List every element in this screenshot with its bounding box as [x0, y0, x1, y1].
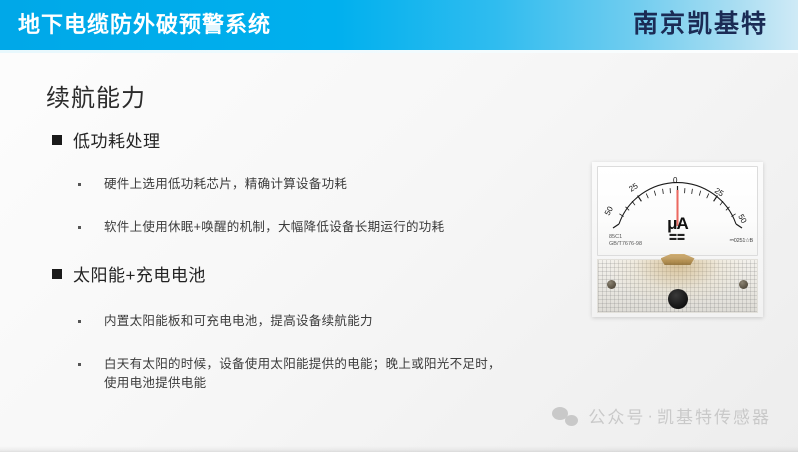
bullet-level2-item: 软件上使用休眠+唤醒的机制，大幅降低设备长期运行的功耗 — [78, 218, 444, 237]
bullet-level2-label: 硬件上选用低功耗芯片，精确计算设备功耗 — [104, 175, 347, 194]
screw-icon-right — [739, 280, 748, 289]
meter-model-number: 85C1 — [609, 234, 642, 241]
bullet-level2-item: 硬件上选用低功耗芯片，精确计算设备功耗 — [78, 175, 347, 194]
bullet-level1-solar-battery: 太阳能+充电电池 — [52, 261, 206, 286]
page-title: 续航能力 — [46, 78, 146, 113]
square-bullet-icon — [52, 269, 62, 279]
meter-housing-base — [597, 259, 758, 313]
svg-text:25: 25 — [627, 181, 640, 194]
dot-bullet-icon — [78, 320, 81, 323]
slide-header-bar: 地下电缆防外破预警系统 南京凯基特 — [0, 0, 798, 50]
bullet-level2-label: 白天有太阳的时候，设备使用太阳能提供的电能；晚上或阳光不足时， 使用电池提供电能 — [104, 355, 501, 393]
company-brand-logo-text: 南京凯基特 — [633, 8, 768, 42]
bullet-level2-label: 内置太阳能板和可充电电池，提高设备续航能力 — [104, 312, 373, 331]
wechat-watermark: 公众号 · 凯基特传感器 — [552, 403, 771, 428]
meter-adjust-knob — [668, 289, 688, 309]
meter-standard-code: GB/T7676-98 — [609, 241, 642, 248]
wechat-bubble-small — [565, 415, 578, 426]
watermark-separator: · — [647, 406, 655, 426]
svg-text:25: 25 — [713, 186, 726, 199]
dot-bullet-icon — [78, 363, 81, 366]
watermark-prefix: 公众号 — [588, 403, 645, 428]
bullet-level2-item: 内置太阳能板和可充电电池，提高设备续航能力 — [78, 312, 373, 331]
watermark-account-name: 凯基特传感器 — [657, 403, 771, 428]
meter-markings-text: ⎓0251☆B — [730, 238, 753, 245]
wechat-icon — [552, 406, 578, 426]
slide-canvas: 地下电缆防外破预警系统 南京凯基特 续航能力 低功耗处理 硬件上选用低功耗芯片，… — [0, 0, 798, 452]
bullet-level2-label: 软件上使用休眠+唤醒的机制，大幅降低设备长期运行的功耗 — [104, 218, 444, 237]
dot-bullet-icon — [78, 183, 81, 186]
slide-bottom-edge-shadow — [0, 446, 798, 452]
screw-icon-left — [607, 280, 616, 289]
slide-header-title: 地下电缆防外破预警系统 — [18, 9, 271, 41]
square-bullet-icon — [52, 135, 62, 145]
meter-model-text: 85C1 GB/T7676-98 — [609, 234, 642, 248]
bullet-level1-label: 太阳能+充电电池 — [73, 261, 206, 286]
bullet-level2-item: 白天有太阳的时候，设备使用太阳能提供的电能；晚上或阳光不足时， 使用电池提供电能 — [78, 355, 501, 393]
bullet-level1-label: 低功耗处理 — [73, 127, 161, 152]
svg-text:0: 0 — [673, 176, 678, 185]
bullet-level1-low-power: 低功耗处理 — [52, 127, 161, 152]
analog-panel-meter-image: 50 25 0 25 50 μA ▬▬▬▬ 85C1 GB/T7676-98 ⎓… — [592, 162, 763, 317]
dot-bullet-icon — [78, 226, 81, 229]
